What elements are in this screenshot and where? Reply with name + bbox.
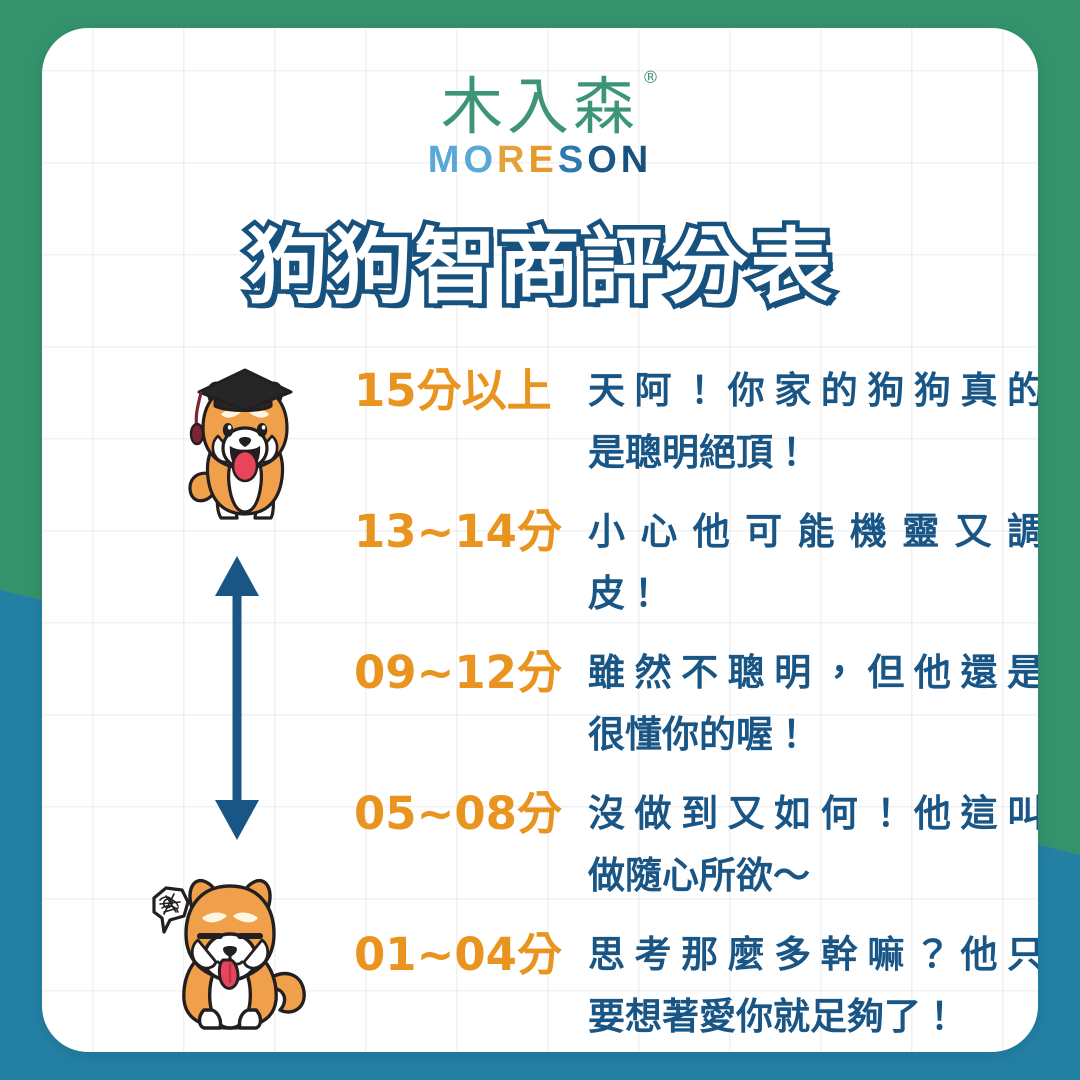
registered-trademark-icon: ® <box>642 70 663 88</box>
logo-chinese-text: 木入森 <box>441 70 639 143</box>
logo-letter-n: N <box>621 141 652 179</box>
score-range-label: 09~12分 <box>354 642 588 704</box>
score-description-line: 小心他可能機靈又調 <box>588 501 1038 563</box>
logo-english-wordmark: MORESON <box>42 141 1038 179</box>
logo-letter-o2: O <box>587 141 621 179</box>
score-description-line: 是聰明絕頂！ <box>588 422 1038 484</box>
score-description: 小心他可能機靈又調 皮！ <box>588 501 1038 625</box>
score-description-line: 皮！ <box>588 563 1038 625</box>
score-description: 天阿！你家的狗狗真的 是聰明絕頂！ <box>588 360 1038 484</box>
double-arrow-vertical-icon <box>214 556 260 840</box>
score-description-line: 要想著愛你就足夠了！ <box>588 986 1038 1048</box>
score-row: 05~08分 沒做到又如何！他這叫 做隨心所欲～ <box>354 783 1038 924</box>
score-range-label: 13~14分 <box>354 501 588 563</box>
logo-chinese-wordmark: 木入森 ® <box>441 74 639 139</box>
logo-letter-r: R <box>497 141 528 179</box>
score-description: 雖然不聰明，但他還是 很懂你的喔！ <box>588 642 1038 766</box>
score-table: 15分以上 天阿！你家的狗狗真的 是聰明絕頂！ 13~14分 小心他可能機靈又調… <box>354 360 1038 1052</box>
score-range-label: 01~04分 <box>354 924 588 986</box>
score-row: 01~04分 思考那麼多幹嘛？他只 要想著愛你就足夠了！ <box>354 924 1038 1052</box>
score-range-label: 05~08分 <box>354 783 588 845</box>
score-description-line: 天阿！你家的狗狗真的 <box>588 360 1038 422</box>
score-description: 沒做到又如何！他這叫 做隨心所欲～ <box>588 783 1038 907</box>
shiba-graduate-dog-icon <box>175 362 315 532</box>
logo-letter-m: M <box>428 141 464 179</box>
score-description-line: 很懂你的喔！ <box>588 704 1038 766</box>
score-row: 09~12分 雖然不聰明，但他還是 很懂你的喔！ <box>354 642 1038 783</box>
shiba-confused-dog-icon <box>142 860 326 1036</box>
content-card: 木入森 ® MORESON 狗狗智商評分表 <box>42 28 1038 1052</box>
page-title: 狗狗智商評分表 <box>42 200 1038 319</box>
score-description: 思考那麼多幹嘛？他只 要想著愛你就足夠了！ <box>588 924 1038 1048</box>
score-row: 13~14分 小心他可能機靈又調 皮！ <box>354 501 1038 642</box>
logo-letter-s: S <box>558 141 587 179</box>
logo-letter-o1: O <box>463 141 497 179</box>
score-description-line: 做隨心所欲～ <box>588 845 1038 907</box>
infographic-page: 木入森 ® MORESON 狗狗智商評分表 <box>0 0 1080 1080</box>
score-description-line: 雖然不聰明，但他還是 <box>588 642 1038 704</box>
score-description-line: 思考那麼多幹嘛？他只 <box>588 924 1038 986</box>
score-row: 15分以上 天阿！你家的狗狗真的 是聰明絕頂！ <box>354 360 1038 501</box>
brand-logo: 木入森 ® MORESON <box>42 74 1038 179</box>
score-range-label: 15分以上 <box>354 360 588 422</box>
score-description-line: 沒做到又如何！他這叫 <box>588 783 1038 845</box>
logo-letter-e: E <box>528 141 557 179</box>
